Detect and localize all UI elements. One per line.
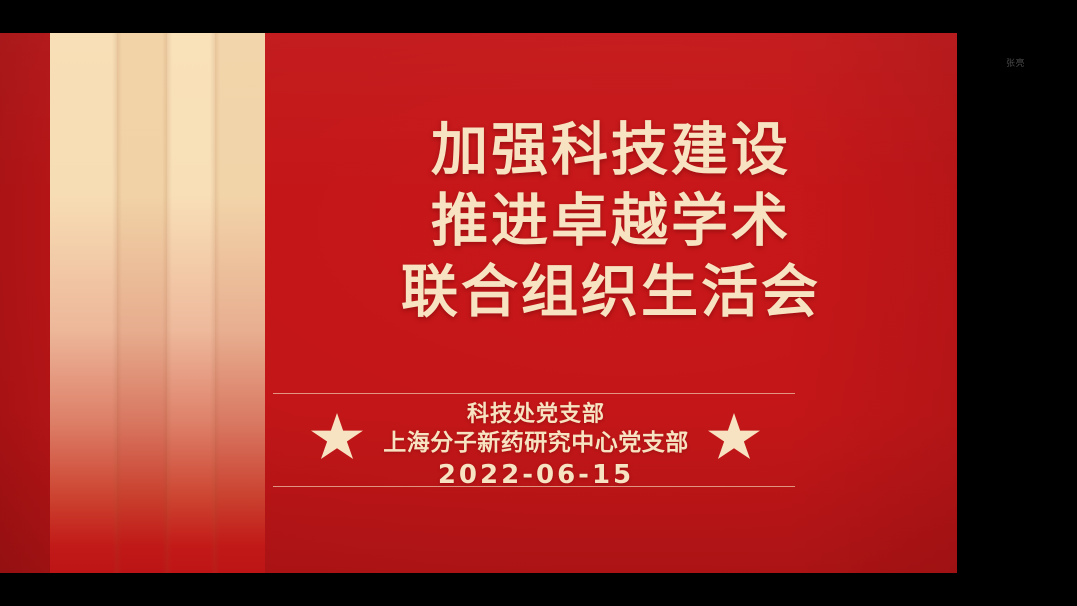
slide-content: 加强科技建设 推进卓越学术 联合组织生活会 科技处党支部 上海分子新药研究中心党… [265,33,957,573]
footer-body: 科技处党支部 上海分子新药研究中心党支部 2022-06-15 [273,394,803,486]
slide-title: 加强科技建设 推进卓越学术 联合组织生活会 [265,115,957,328]
ribbon-panel-3 [167,33,215,573]
star-icon-right [708,413,760,463]
ribbon-panel-4 [215,33,265,573]
presentation-viewport: 张亮 加强科技建设 推进卓越学术 联合组织生活会 [0,0,1077,606]
title-line-3: 联合组织生活会 [265,257,957,328]
footer-text-block: 科技处党支部 上海分子新药研究中心党支部 2022-06-15 [365,400,707,491]
ribbon-fold-2 [162,33,172,573]
decorative-ribbon-banner [50,33,265,573]
participant-name-label: 张亮 [1006,58,1025,68]
star-icon-left [311,413,363,463]
event-date: 2022-06-15 [365,460,707,491]
organization-line-1: 科技处党支部 [365,400,707,429]
ribbon-panel-1 [50,33,117,573]
ribbon-panel-2 [117,33,167,573]
slide-footer: 科技处党支部 上海分子新药研究中心党支部 2022-06-15 [273,393,803,487]
title-line-2: 推进卓越学术 [265,186,957,257]
organization-line-2: 上海分子新药研究中心党支部 [365,429,707,458]
ribbon-fold-3 [210,33,220,573]
title-line-1: 加强科技建设 [265,115,957,186]
ribbon-fold-1 [112,33,122,573]
slide-canvas: 加强科技建设 推进卓越学术 联合组织生活会 科技处党支部 上海分子新药研究中心党… [0,33,957,573]
